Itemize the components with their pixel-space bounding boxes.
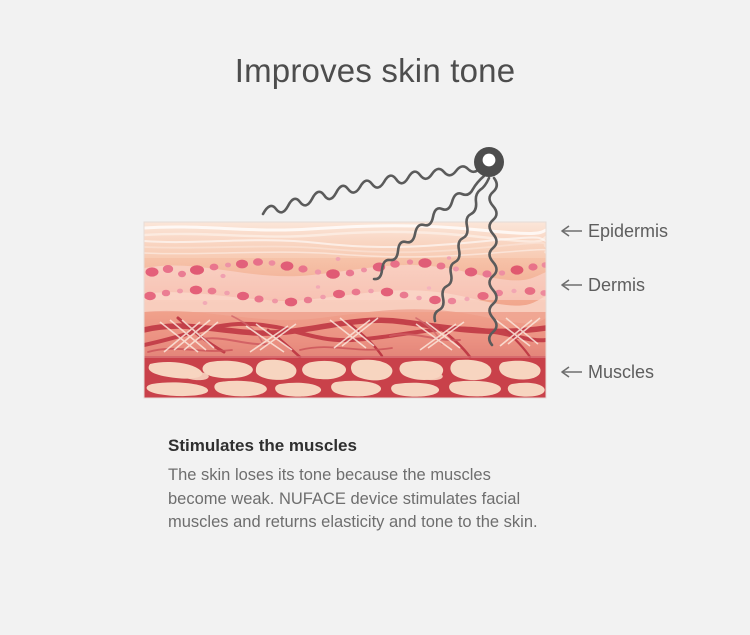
caption-line-1: The skin loses its tone because the musc…: [168, 464, 588, 488]
caption-body: The skin loses its tone because the musc…: [168, 464, 588, 535]
wave-line-1: [263, 166, 480, 214]
arrow-left-icon-dermis: [562, 280, 582, 290]
muscle-layer-group: [144, 358, 546, 398]
callout-arrows: [562, 226, 582, 377]
caption-line-3: muscles and returns elasticity and tone …: [168, 511, 588, 535]
microcurrent-probe-icon[interactable]: [474, 147, 504, 177]
callout-label-dermis: Dermis: [588, 275, 645, 296]
skin-layers-group: [144, 222, 548, 359]
skin-diagram: Epidermis Dermis Muscles: [0, 0, 750, 630]
callout-label-epidermis: Epidermis: [588, 221, 668, 242]
page-root: Improves skin tone: [0, 0, 750, 630]
caption-line-2: become weak. NUFACE device stimulates fa…: [168, 488, 588, 512]
arrow-left-icon-epidermis: [562, 226, 582, 236]
caption-heading: Stimulates the muscles: [168, 436, 357, 456]
skin-cross-section-svg: [0, 0, 750, 630]
arrow-left-icon-muscles: [562, 367, 582, 377]
callout-label-muscles: Muscles: [588, 362, 654, 383]
